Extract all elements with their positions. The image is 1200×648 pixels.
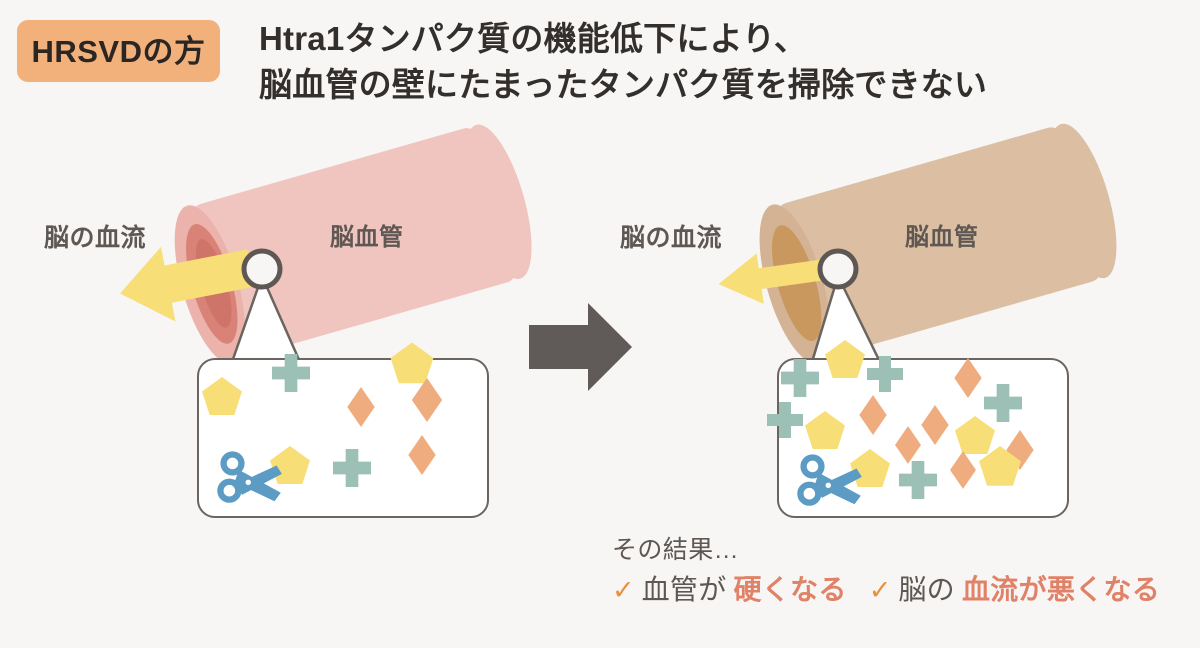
hrsvd-badge-label: HRSVDの方 — [31, 36, 205, 67]
check-icon: ✓ — [869, 577, 892, 604]
left-flow-label: 脳の血流 — [44, 218, 146, 254]
result-item-1-prefix: 脳の — [898, 576, 955, 604]
check-icon: ✓ — [612, 577, 635, 604]
left-detail-panel — [197, 358, 489, 518]
headline: Htra1タンパク質の機能低下により、 脳血管の壁にたまったタンパク質を掃除でき… — [259, 16, 1189, 107]
result-item-0: ✓ 血管が 硬くなる — [612, 576, 847, 604]
hrsvd-badge: HRSVDの方 — [17, 20, 220, 82]
headline-line-1: Htra1タンパク質の機能低下により、 — [259, 16, 1189, 62]
result-item-1-emphasis: 血流が悪くなる — [962, 576, 1160, 604]
right-detail-panel — [777, 358, 1069, 518]
right-callout-connector — [812, 251, 880, 362]
result-list: ✓ 血管が 硬くなる ✓ 脳の 血流が悪くなる — [612, 576, 1160, 604]
result-item-0-emphasis: 硬くなる — [734, 576, 847, 604]
headline-line-2: 脳血管の壁にたまったタンパク質を掃除できない — [259, 62, 1189, 108]
right-vessel-label: 脳血管 — [905, 217, 979, 252]
left-callout-connector — [232, 251, 300, 362]
right-blood-flow-arrow — [715, 243, 841, 310]
diagram-canvas: HRSVDの方 Htra1タンパク質の機能低下により、 脳血管の壁にたまったタン… — [0, 0, 1200, 648]
transition-arrow — [529, 303, 632, 391]
result-intro: その結果… — [612, 530, 739, 566]
result-item-1: ✓ 脳の 血流が悪くなる — [869, 576, 1160, 604]
right-flow-label: 脳の血流 — [620, 218, 722, 254]
result-item-0-prefix: 血管が — [642, 576, 727, 604]
left-vessel-label: 脳血管 — [330, 217, 404, 252]
